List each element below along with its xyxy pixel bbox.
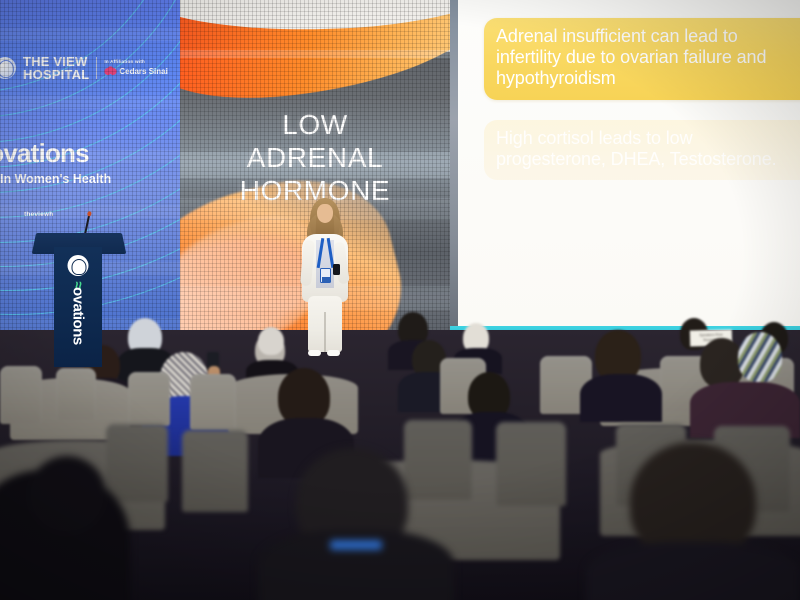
speaker-podium: ≈ovations (46, 232, 112, 367)
banquet-chair (190, 374, 236, 430)
projection-screen: Adrenal insufficient can lead to inferti… (450, 0, 800, 345)
foreground-person-left-head (28, 456, 106, 534)
slide-headline-line2: ADRENAL (180, 141, 450, 174)
logo-divider (96, 57, 97, 79)
presenter-handheld-device (333, 264, 340, 275)
hospital-logo-lockup: THE VIEW HOSPITAL In Affiliation with Ce… (8, 55, 168, 82)
banquet-chair (56, 368, 96, 420)
view-hospital-mark-icon (0, 57, 16, 79)
cedars-sinai-knot-icon (104, 66, 117, 76)
presenter-white-trousers (308, 296, 342, 352)
podium-ovations-wordmark: ≈ovations (70, 281, 87, 344)
cedars-sinai-brand: Cedars Sinai (104, 66, 167, 76)
hospital-name-line2: HOSPITAL (23, 68, 89, 81)
conference-photo-scene: THE VIEW HOSPITAL In Affiliation with Ce… (0, 0, 800, 600)
presenter-badge (320, 268, 331, 283)
podium-front-panel: ≈ovations (54, 247, 102, 367)
banquet-chair (182, 430, 248, 512)
banquet-chair (128, 372, 170, 426)
presenter-figure (296, 198, 354, 358)
screen-left-edge (450, 0, 458, 345)
audience-shoulders (580, 374, 662, 422)
banquet-chair (106, 424, 168, 502)
slide-callout-primary: Adrenal insufficient can lead to inferti… (484, 18, 800, 100)
foreground-person-right-body (586, 542, 800, 600)
wall-small-caption: theviewh (24, 211, 53, 218)
banquet-chair (0, 366, 42, 424)
presenter-shoe-right (327, 350, 340, 356)
affiliation-label: In Affiliation with (104, 60, 167, 65)
ovations-brand-wall: ≈ovations In Women's Health (0, 138, 111, 186)
foreground-lanyard (330, 540, 382, 550)
slide-callout-secondary: High cortisol leads to low progesterone,… (484, 120, 800, 180)
slide-headline: LOW ADRENAL HORMONE (180, 108, 450, 207)
audience-head (258, 327, 284, 355)
ovations-tagline: In Women's Health (0, 172, 111, 186)
audience-head-hijab-patterned (738, 332, 782, 382)
podium-circle-logo-icon (68, 255, 89, 276)
slide-headline-line1: LOW (180, 108, 450, 141)
banquet-chair (496, 422, 566, 506)
presenter-face (317, 204, 333, 223)
banquet-chair (404, 420, 472, 500)
ovations-wordmark: ovations (0, 138, 89, 168)
presenter-shoe-left (308, 350, 321, 356)
